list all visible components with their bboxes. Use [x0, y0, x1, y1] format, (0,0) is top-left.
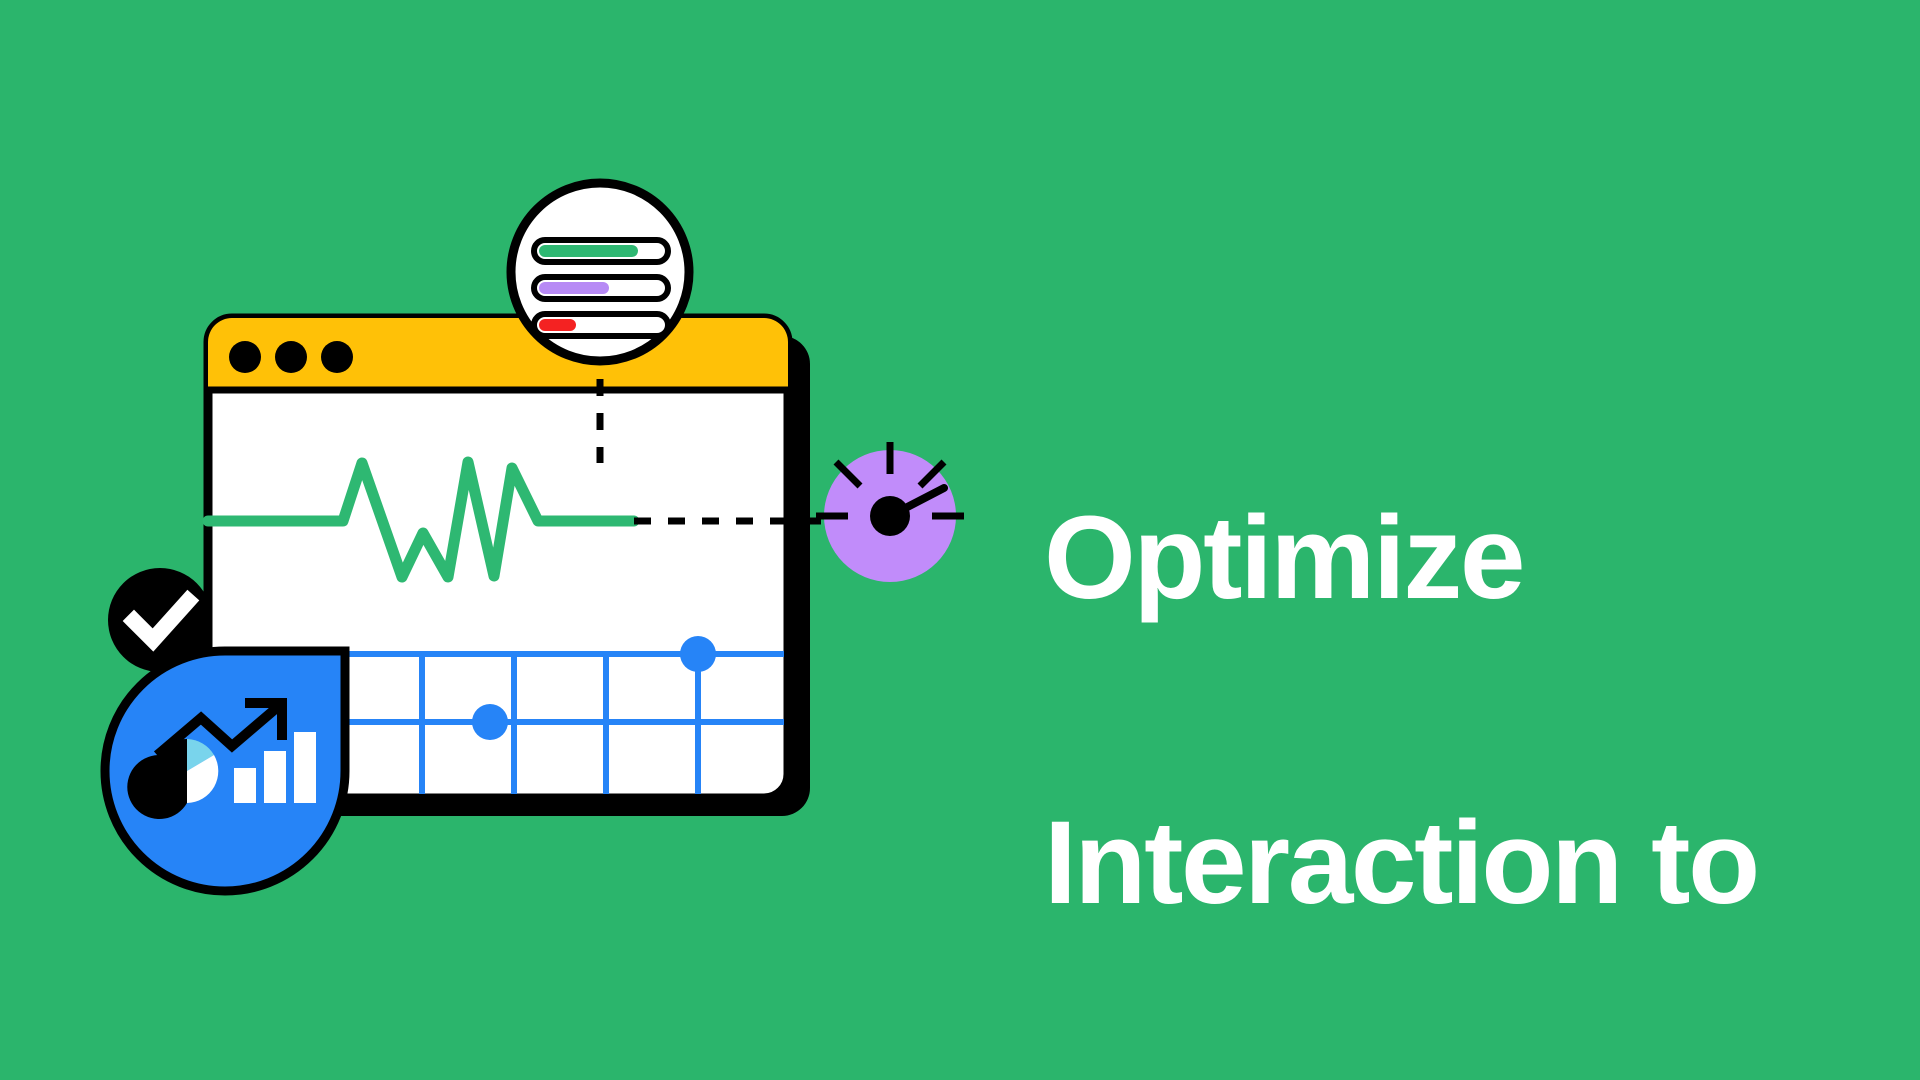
metric-bar-needs-improvement-fill	[539, 282, 609, 294]
metric-bar-good-fill	[539, 245, 638, 257]
analytics-bar-2	[264, 751, 286, 803]
window-dot-2[interactable]	[275, 341, 307, 373]
grid-point-2[interactable]	[472, 704, 508, 740]
metric-bar-poor-fill	[539, 319, 576, 331]
hero-banner: Optimize Interaction to Next Paint	[0, 0, 1920, 1080]
grid-point-1[interactable]	[680, 636, 716, 672]
gauge-hub	[870, 496, 910, 536]
analytics-bar-1	[234, 768, 256, 803]
headline-line-2: Interaction to	[1044, 787, 1884, 939]
window-dot-1[interactable]	[229, 341, 261, 373]
metrics-bubble[interactable]	[511, 183, 689, 361]
page-title: Optimize Interaction to Next Paint	[1044, 330, 1884, 1080]
analytics-bar-3	[294, 732, 316, 803]
headline-line-1: Optimize	[1044, 482, 1884, 634]
analytics-badge[interactable]	[105, 651, 345, 891]
window-dot-3[interactable]	[321, 341, 353, 373]
